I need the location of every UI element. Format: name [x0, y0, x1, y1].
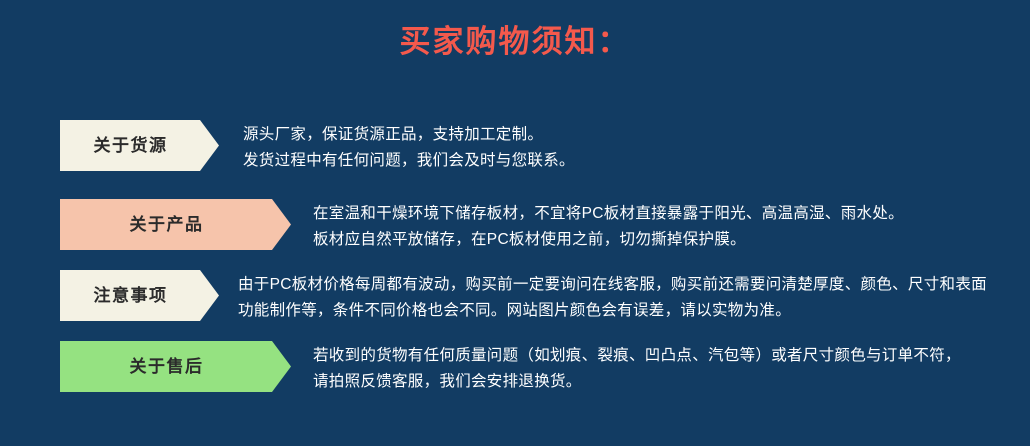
- page-title: 买家购物须知：: [0, 22, 1030, 62]
- section-body-source: 源头厂家，保证货源正品，支持加工定制。 发货过程中有任何问题，我们会及时与您联系…: [243, 122, 575, 174]
- section-body-product: 在室温和干燥环境下储存板材，不宜将PC板材直接暴露于阳光、高温高湿、雨水处。 板…: [313, 201, 904, 253]
- notice-section-aftersales: 关于售后 若收到的货物有任何质量问题（如划痕、裂痕、凹凸点、汽包等）或者尺寸颜色…: [0, 341, 1030, 397]
- body-line: 板材应自然平放储存，在PC板材使用之前，切勿撕掉保护膜。: [313, 227, 904, 253]
- section-tag-source: 关于货源: [60, 120, 219, 171]
- section-body-attention: 由于PC板材价格每周都有波动，购买前一定要询问在线客服，购买前还需要问清楚厚度、…: [238, 272, 987, 324]
- body-line: 在室温和干燥环境下储存板材，不宜将PC板材直接暴露于阳光、高温高湿、雨水处。: [313, 201, 904, 227]
- body-line: 请拍照反馈客服，我们会安排退换货。: [313, 369, 961, 395]
- body-line: 由于PC板材价格每周都有波动，购买前一定要询问在线客服，购买前还需要问清楚厚度、…: [238, 272, 987, 298]
- body-line: 发货过程中有任何问题，我们会及时与您联系。: [243, 148, 575, 174]
- section-tag-product: 关于产品: [60, 199, 291, 250]
- notice-section-attention: 注意事项 由于PC板材价格每周都有波动，购买前一定要询问在线客服，购买前还需要问…: [0, 270, 1030, 326]
- body-line: 源头厂家，保证货源正品，支持加工定制。: [243, 122, 575, 148]
- body-line: 功能制作等，条件不同价格也会不同。网站图片颜色会有误差，请以实物为准。: [238, 298, 987, 324]
- notice-section-source: 关于货源 源头厂家，保证货源正品，支持加工定制。 发货过程中有任何问题，我们会及…: [0, 120, 1030, 176]
- buyer-notice-page: 买家购物须知： 关于货源 源头厂家，保证货源正品，支持加工定制。 发货过程中有任…: [0, 0, 1030, 446]
- section-body-aftersales: 若收到的货物有任何质量问题（如划痕、裂痕、凹凸点、汽包等）或者尺寸颜色与订单不符…: [313, 343, 961, 395]
- section-tag-attention: 注意事项: [60, 270, 219, 321]
- body-line: 若收到的货物有任何质量问题（如划痕、裂痕、凹凸点、汽包等）或者尺寸颜色与订单不符…: [313, 343, 961, 369]
- section-tag-aftersales: 关于售后: [60, 341, 291, 392]
- notice-section-product: 关于产品 在室温和干燥环境下储存板材，不宜将PC板材直接暴露于阳光、高温高湿、雨…: [0, 199, 1030, 255]
